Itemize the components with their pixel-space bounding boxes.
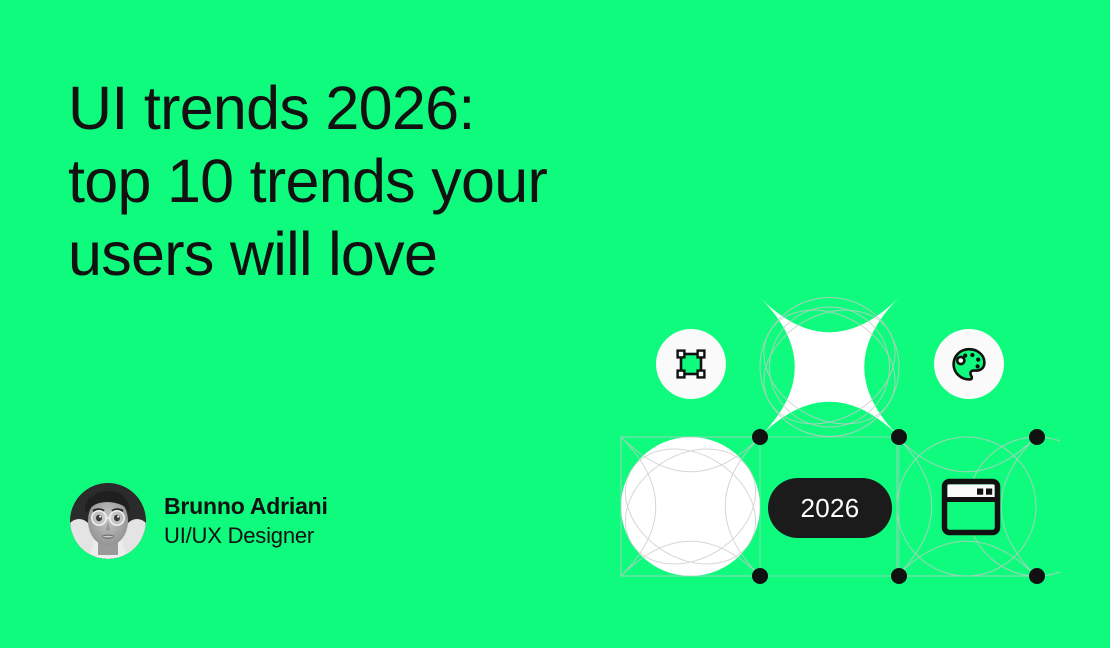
page-title-line-1: UI trends 2026: <box>68 72 668 145</box>
anchor-point[interactable] <box>891 568 907 584</box>
anchor-point[interactable] <box>891 429 907 445</box>
year-pill[interactable]: 2026 <box>768 478 892 538</box>
author-role: UI/UX Designer <box>164 523 328 549</box>
browser-window-icon <box>941 478 1001 536</box>
palette-badge[interactable] <box>934 329 1004 399</box>
avatar <box>70 483 146 559</box>
vector-tool-badge[interactable] <box>656 329 726 399</box>
page-title-line-2: top 10 trends your <box>68 145 668 218</box>
author-block: Brunno Adriani UI/UX Designer <box>70 483 328 559</box>
anchor-point[interactable] <box>1029 568 1045 584</box>
paint-palette-icon <box>950 345 988 383</box>
four-petal-shape <box>743 287 915 447</box>
avatar-photo <box>70 483 146 559</box>
author-text: Brunno Adriani UI/UX Designer <box>164 493 328 549</box>
anchor-point[interactable] <box>752 568 768 584</box>
circle-shape <box>604 426 777 588</box>
author-name: Brunno Adriani <box>164 493 328 520</box>
decorative-composition <box>600 280 1060 600</box>
anchor-point[interactable] <box>1029 429 1045 445</box>
vector-node-path-icon <box>674 347 708 381</box>
year-pill-label: 2026 <box>800 493 859 524</box>
browser-window-badge[interactable] <box>941 478 1001 536</box>
page-title-line-3: users will love <box>68 218 668 291</box>
anchor-point[interactable] <box>752 429 768 445</box>
slide-canvas: UI trends 2026: top 10 trends your users… <box>0 0 1110 648</box>
page-title: UI trends 2026: top 10 trends your users… <box>68 72 668 291</box>
